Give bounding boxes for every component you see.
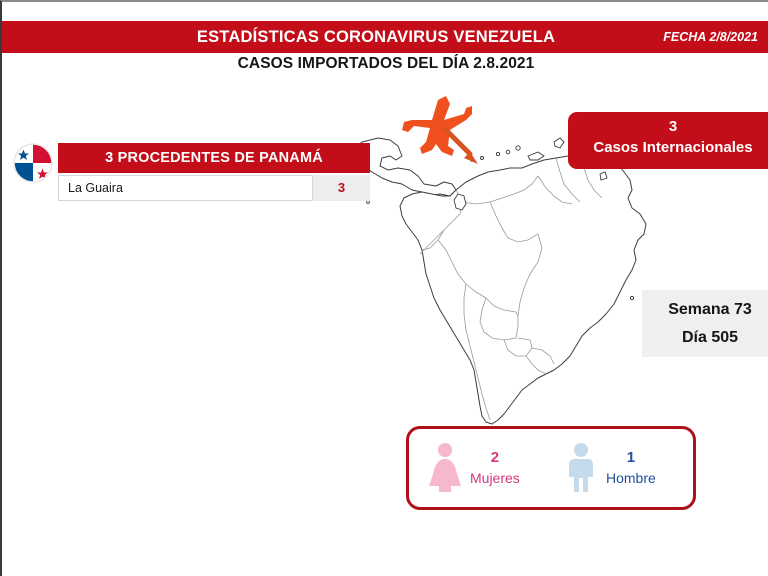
period-box: Semana 73 Día 505: [642, 290, 768, 357]
gender-breakdown-box: 2 Mujeres 1 Hombre: [406, 426, 696, 510]
international-cases-box: 3 Casos Internacionales: [568, 112, 768, 169]
day-label: Día 505: [642, 324, 768, 352]
male-count: 1: [606, 448, 656, 468]
slide-canvas: ESTADÍSTICAS CORONAVIRUS VENEZUELA FECHA…: [0, 0, 768, 576]
origin-header-label: 3 PROCEDENTES DE PANAMÁ: [58, 143, 370, 173]
gender-group-men: 1 Hombre: [563, 429, 656, 507]
week-label: Semana 73: [642, 296, 768, 324]
page-subtitle: CASOS IMPORTADOS DEL DÍA 2.8.2021: [2, 55, 768, 73]
header-band: ESTADÍSTICAS CORONAVIRUS VENEZUELA FECHA…: [2, 21, 768, 53]
female-count: 2: [470, 448, 520, 468]
international-cases-label: Casos Internacionales: [568, 136, 768, 159]
origin-location-name: La Guaira: [58, 175, 313, 201]
international-cases-count: 3: [568, 117, 768, 136]
male-figure-icon: [563, 442, 599, 494]
page-title: ESTADÍSTICAS CORONAVIRUS VENEZUELA: [2, 21, 768, 53]
table-row[interactable]: La Guaira 3: [58, 175, 370, 201]
male-stats: 1 Hombre: [606, 448, 656, 488]
header-date: FECHA 2/8/2021: [663, 21, 758, 53]
female-figure-icon: [427, 442, 463, 494]
origin-location-count: 3: [313, 175, 370, 201]
panama-flag-icon: [12, 142, 54, 184]
female-label: Mujeres: [470, 468, 520, 488]
male-label: Hombre: [606, 468, 656, 488]
origin-country-block: 3 PROCEDENTES DE PANAMÁ La Guaira 3: [10, 138, 372, 206]
female-stats: 2 Mujeres: [470, 448, 520, 488]
gender-group-women: 2 Mujeres: [427, 429, 520, 507]
